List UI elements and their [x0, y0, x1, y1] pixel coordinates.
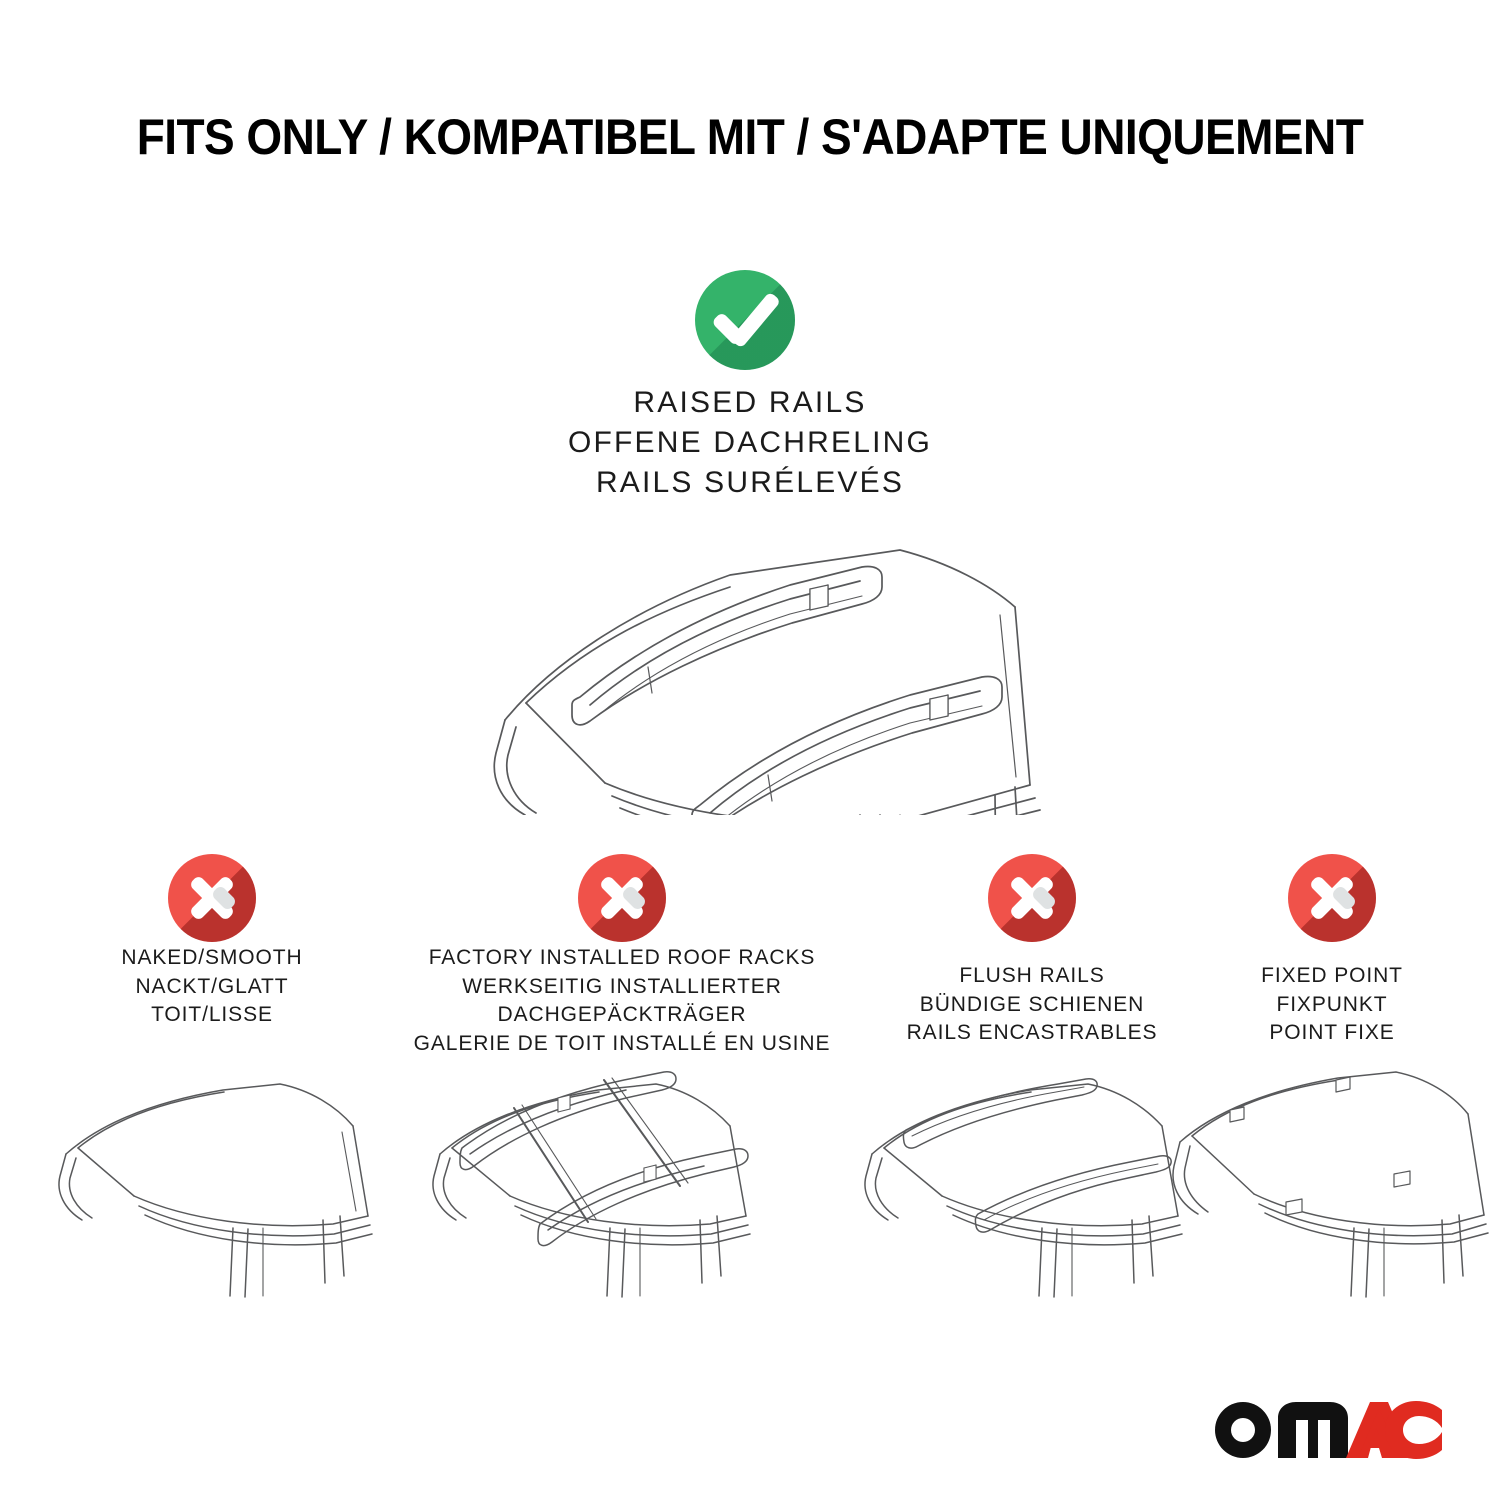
- page-title: FITS ONLY / KOMPATIBEL MIT / S'ADAPTE UN…: [60, 108, 1440, 166]
- label-line: NACKT/GLATT: [42, 973, 382, 1002]
- label-line: FIXPUNKT: [1182, 991, 1482, 1020]
- cross-mark: [168, 854, 256, 942]
- label-fixed-point: FIXED POINT FIXPUNKT POINT FIXE: [1182, 962, 1482, 1048]
- label-flush-rails: FLUSH RAILS BÜNDIGE SCHIENEN RAILS ENCAS…: [862, 962, 1202, 1048]
- cross-circle-icon: [168, 854, 256, 942]
- label-line: FLUSH RAILS: [862, 962, 1202, 991]
- status-badge-incompatible-1: [168, 854, 256, 942]
- label-line: TOIT/LISSE: [42, 1001, 382, 1030]
- label-line: RAILS SURÉLEVÉS: [0, 463, 1500, 503]
- status-badge-incompatible-3: [988, 854, 1076, 942]
- label-line: NAKED/SMOOTH: [42, 944, 382, 973]
- fitment-infographic: FITS ONLY / KOMPATIBEL MIT / S'ADAPTE UN…: [0, 0, 1500, 1500]
- label-line: WERKSEITIG INSTALLIERTER: [392, 973, 852, 1002]
- check-circle-icon: [695, 270, 795, 370]
- label-line: RAILS ENCASTRABLES: [862, 1019, 1202, 1048]
- label-line: FIXED POINT: [1182, 962, 1482, 991]
- illustration-naked-smooth: [48, 1068, 378, 1298]
- omac-logo: [1210, 1388, 1442, 1460]
- label-raised-rails: RAISED RAILS OFFENE DACHRELING RAILS SUR…: [0, 383, 1500, 503]
- status-badge-incompatible-4: [1288, 854, 1376, 942]
- cross-circle-icon: [988, 854, 1076, 942]
- label-factory-roof-racks: FACTORY INSTALLED ROOF RACKS WERKSEITIG …: [392, 944, 852, 1058]
- illustration-flush-rails: [850, 1062, 1190, 1298]
- label-line: POINT FIXE: [1182, 1019, 1482, 1048]
- label-line: OFFENE DACHRELING: [0, 423, 1500, 463]
- label-line: FACTORY INSTALLED ROOF RACKS: [392, 944, 852, 973]
- status-badge-compatible: [695, 270, 795, 370]
- cross-mark: [578, 854, 666, 942]
- label-line: BÜNDIGE SCHIENEN: [862, 991, 1202, 1020]
- cross-circle-icon: [1288, 854, 1376, 942]
- illustration-fixed-point: [1158, 1062, 1490, 1298]
- status-badge-incompatible-2: [578, 854, 666, 942]
- label-line: DACHGEPÄCKTRÄGER: [392, 1001, 852, 1030]
- cross-mark: [988, 854, 1076, 942]
- illustration-factory-roof-racks: [418, 1062, 758, 1298]
- check-mark: [695, 270, 795, 370]
- label-naked-smooth: NAKED/SMOOTH NACKT/GLATT TOIT/LISSE: [42, 944, 382, 1030]
- label-line: RAISED RAILS: [0, 383, 1500, 423]
- illustration-raised-rails: [430, 515, 1070, 815]
- cross-circle-icon: [578, 854, 666, 942]
- label-line: GALERIE DE TOIT INSTALLÉ EN USINE: [392, 1030, 852, 1059]
- cross-mark: [1288, 854, 1376, 942]
